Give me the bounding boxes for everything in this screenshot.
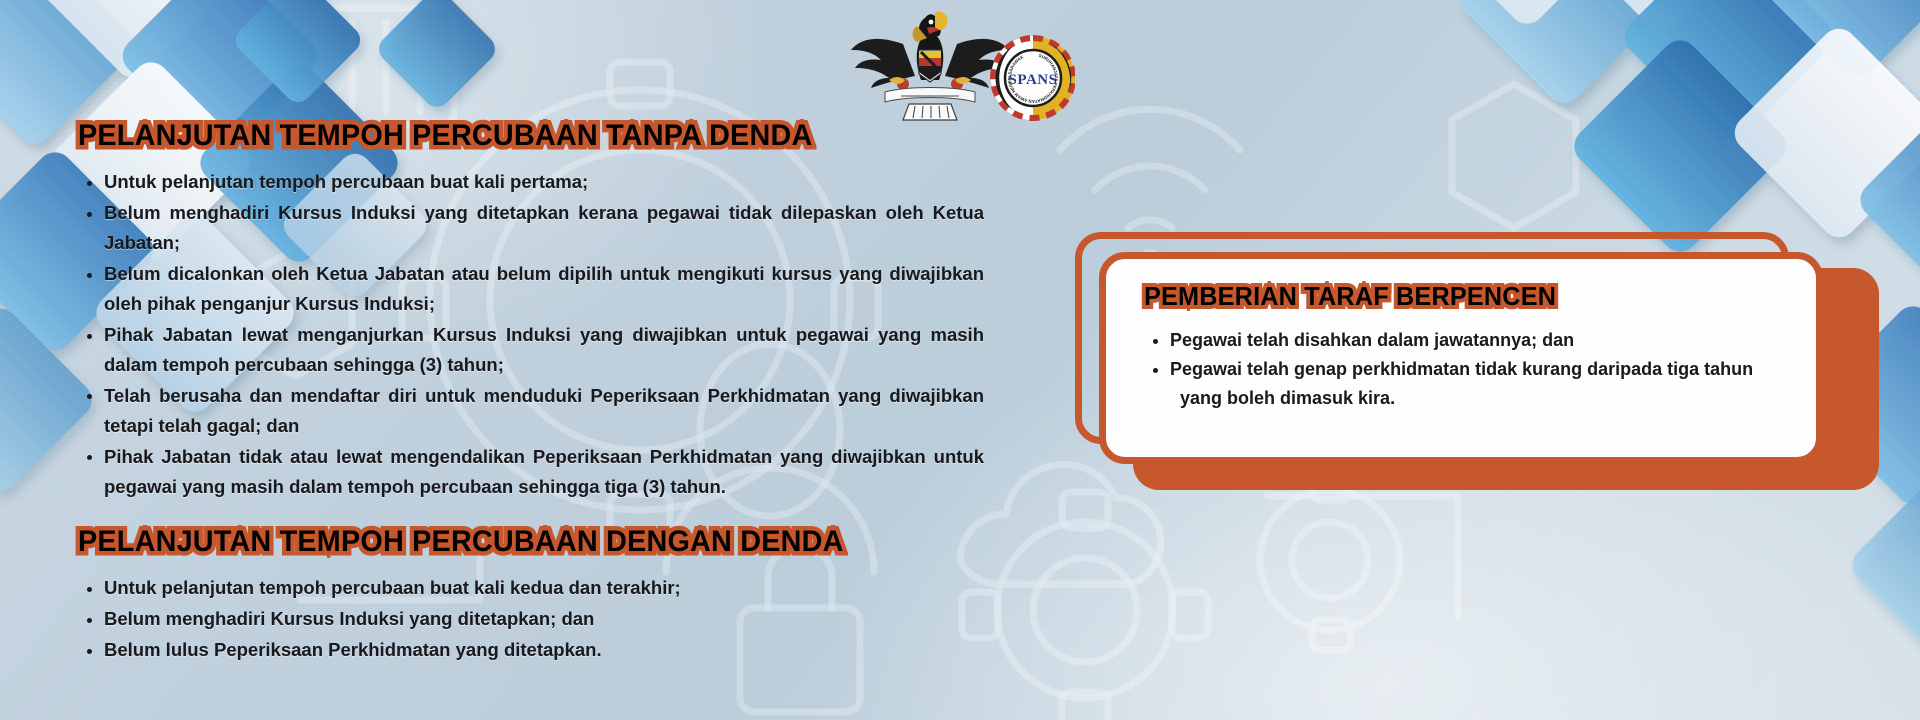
list-item: Pegawai telah disahkan dalam jawatannya;… — [1146, 326, 1870, 354]
heading-tanpa-denda-wrap: PELANJUTAN TEMPOH PERCUBAAN TANPA DENDA — [78, 118, 978, 153]
list-item: Pihak Jabatan tidak atau lewat mengendal… — [78, 442, 984, 502]
list-item-line1: Pegawai telah genap perkhidmatan tidak k… — [1170, 359, 1753, 379]
list-tanpa-denda: Untuk pelanjutan tempoh percubaan buat k… — [78, 167, 978, 502]
list-item: Belum menghadiri Kursus Induksi yang dit… — [78, 198, 984, 258]
pemberian-taraf-berpencen-card: PEMBERIAN TARAF BERPENCEN Pegawai telah … — [1099, 252, 1823, 464]
list-dengan-denda: Untuk pelanjutan tempoh percubaan buat k… — [78, 573, 978, 665]
poster-canvas: SPANS SURUHANJAYA PERKHIDMATAN AWAM NEGE… — [0, 0, 1920, 720]
sarawak-coat-of-arms-icon — [851, 12, 1009, 120]
list-item: Pihak Jabatan lewat menganjurkan Kursus … — [78, 320, 984, 380]
list-item: Belum lulus Peperiksaan Perkhidmatan yan… — [78, 635, 978, 665]
heading-dengan-denda: PELANJUTAN TEMPOH PERCUBAAN DENGAN DENDA — [78, 524, 844, 559]
pemberian-taraf-berpencen-card-group: PEMBERIAN TARAF BERPENCEN Pegawai telah … — [1075, 232, 1875, 512]
card-heading: PEMBERIAN TARAF BERPENCEN — [1144, 281, 1556, 312]
heading-dengan-denda-wrap: PELANJUTAN TEMPOH PERCUBAAN DENGAN DENDA — [78, 524, 978, 559]
list-item: Belum dicalonkan oleh Ketua Jabatan atau… — [78, 259, 984, 319]
list-item: Pegawai telah genap perkhidmatan tidak k… — [1146, 355, 1870, 412]
heading-tanpa-denda: PELANJUTAN TEMPOH PERCUBAAN TANPA DENDA — [78, 118, 812, 153]
list-item: Telah berusaha dan mendaftar diri untuk … — [78, 381, 984, 441]
left-content-column: PELANJUTAN TEMPOH PERCUBAAN TANPA DENDA … — [78, 118, 978, 666]
svg-text:SPANS: SPANS — [1009, 72, 1058, 88]
card-list: Pegawai telah disahkan dalam jawatannya;… — [1146, 326, 1786, 412]
spans-logo-icon: SPANS SURUHANJAYA PERKHIDMATAN AWAM NEGE… — [991, 36, 1075, 120]
list-item: Untuk pelanjutan tempoh percubaan buat k… — [78, 167, 984, 197]
list-item: Untuk pelanjutan tempoh percubaan buat k… — [78, 573, 978, 603]
list-item-line2: yang boleh dimasuk kira. — [1170, 384, 1870, 412]
list-item: Belum menghadiri Kursus Induksi yang dit… — [78, 604, 978, 634]
logo-group: SPANS SURUHANJAYA PERKHIDMATAN AWAM NEGE… — [845, 8, 1075, 128]
